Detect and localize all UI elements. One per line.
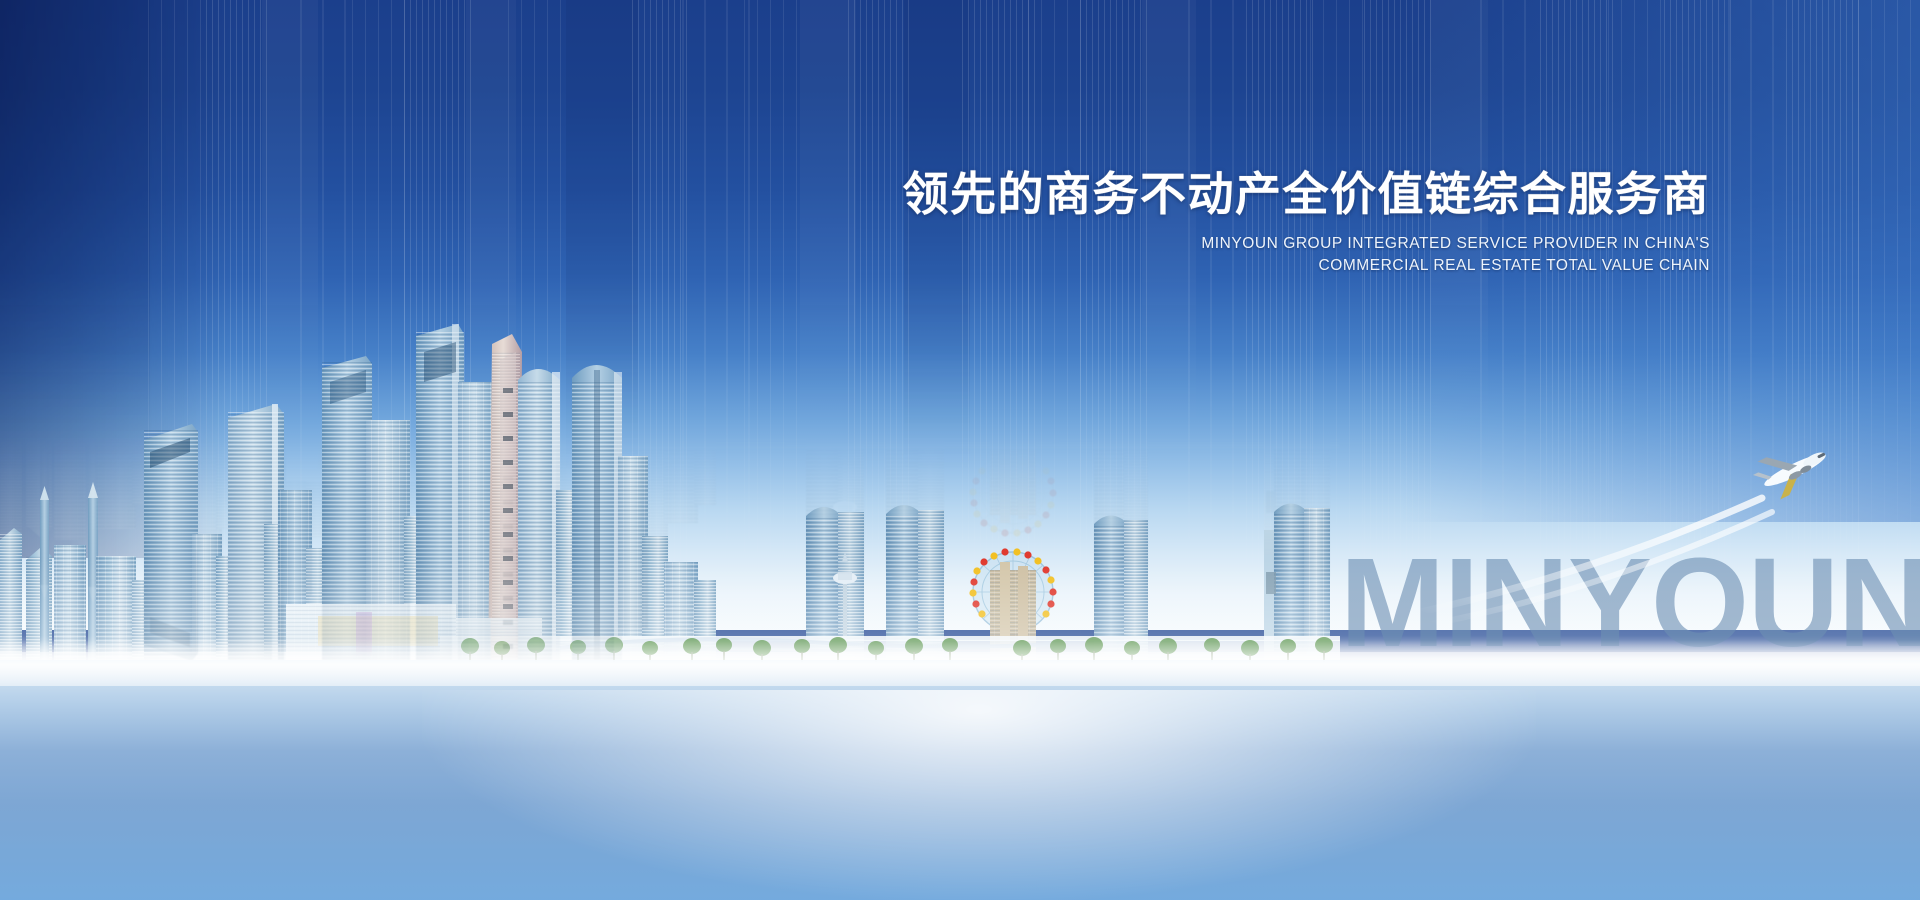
minyoun-watermark: MINYOUN bbox=[1340, 540, 1920, 666]
page-title: 领先的商务不动产全价值链综合服务商 bbox=[660, 170, 1710, 219]
hero-text-block: 领先的商务不动产全价值链综合服务商 MINYOUN GROUP INTEGRAT… bbox=[660, 170, 1710, 278]
subtitle-line-1: MINYOUN GROUP INTEGRATED SERVICE PROVIDE… bbox=[660, 233, 1710, 255]
subtitle-line-2: COMMERCIAL REAL ESTATE TOTAL VALUE CHAIN bbox=[660, 255, 1710, 277]
banner-hero: MINYOUN bbox=[0, 0, 1920, 900]
water-surface bbox=[0, 660, 1920, 900]
page-subtitle: MINYOUN GROUP INTEGRATED SERVICE PROVIDE… bbox=[660, 233, 1710, 278]
